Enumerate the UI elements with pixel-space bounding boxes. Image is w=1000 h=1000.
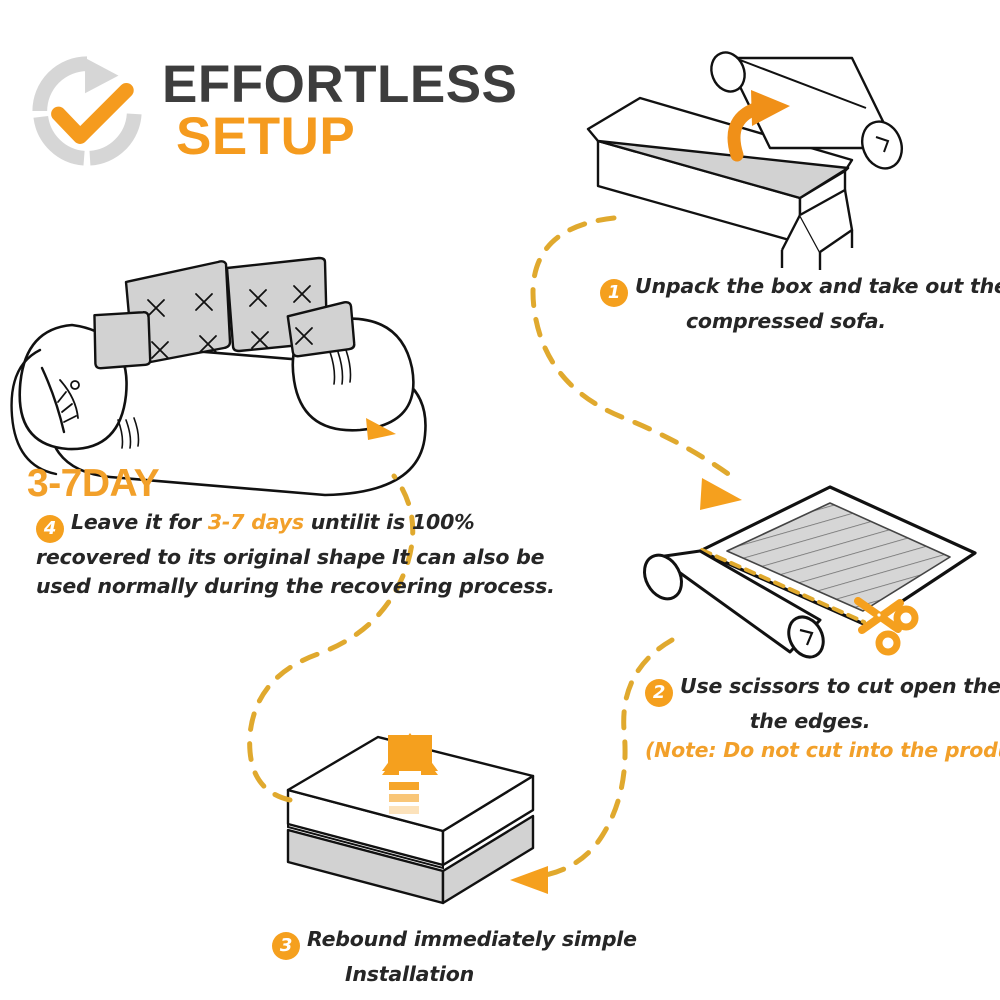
step-2-line-1-text: Use scissors to cut open the bag along — [680, 674, 1000, 698]
step-2-text: 2Use scissors to cut open the bag along … — [645, 672, 975, 765]
box-illustration — [588, 98, 852, 270]
step-1-line-2: compressed sofa. — [600, 307, 972, 336]
day-heading: 3-7DAY — [27, 462, 159, 506]
step-2-badge: 2 — [645, 679, 673, 707]
step-1-text: 1Unpack the box and take out the compres… — [600, 272, 972, 336]
step-4-line-3: used normally during the recovering proc… — [36, 572, 396, 601]
step-2-note: (Note: Do not cut into the products) — [645, 736, 975, 765]
sofa-illustration — [12, 258, 426, 495]
step-4-line-1: 4Leave it for 3-7 days untilit is 100% — [36, 508, 396, 543]
step-1-line-1-text: Unpack the box and take out the — [635, 274, 1000, 298]
vacuum-bag-illustration — [637, 487, 975, 663]
header: EFFORTLESS SETUP — [28, 52, 517, 170]
step-3-line-1: 3Rebound immediately simple — [272, 925, 547, 960]
page-title-line2: SETUP — [176, 111, 517, 163]
step-3-line-2: Installation — [272, 960, 547, 989]
rolled-sofa-illustration — [706, 47, 909, 174]
step-4-text: 4Leave it for 3-7 days untilit is 100% r… — [36, 508, 396, 601]
circular-arrow-check-icon — [28, 52, 146, 170]
step-2-line-2: the edges. — [645, 707, 975, 736]
step-3-badge: 3 — [272, 932, 300, 960]
step-4-line-2: recovered to its original shape It can a… — [36, 543, 396, 572]
arrow-box-to-bag — [533, 218, 742, 510]
infographic-canvas: EFFORTLESS SETUP 3-7DAY 1Unpack the box … — [0, 0, 1000, 1000]
scissors-icon — [858, 601, 915, 652]
folded-mattress-illustration — [288, 737, 533, 903]
step-1-badge: 1 — [600, 279, 628, 307]
curl-arrow-icon — [734, 90, 790, 155]
arrow-mattress-to-sofa — [250, 418, 413, 800]
step-4-badge: 4 — [36, 515, 64, 543]
step-4-line-1-text: Leave it for 3-7 days untilit is 100% — [71, 510, 474, 534]
page-title-line1: EFFORTLESS — [162, 59, 517, 111]
step-2-line-1: 2Use scissors to cut open the bag along — [645, 672, 975, 707]
expansion-up-arrow-icon — [382, 733, 438, 814]
step-3-line-1-text: Rebound immediately simple — [307, 927, 637, 951]
header-text: EFFORTLESS SETUP — [162, 59, 517, 163]
step-1-line-1: 1Unpack the box and take out the — [600, 272, 972, 307]
step-3-text: 3Rebound immediately simple Installation — [272, 925, 547, 989]
